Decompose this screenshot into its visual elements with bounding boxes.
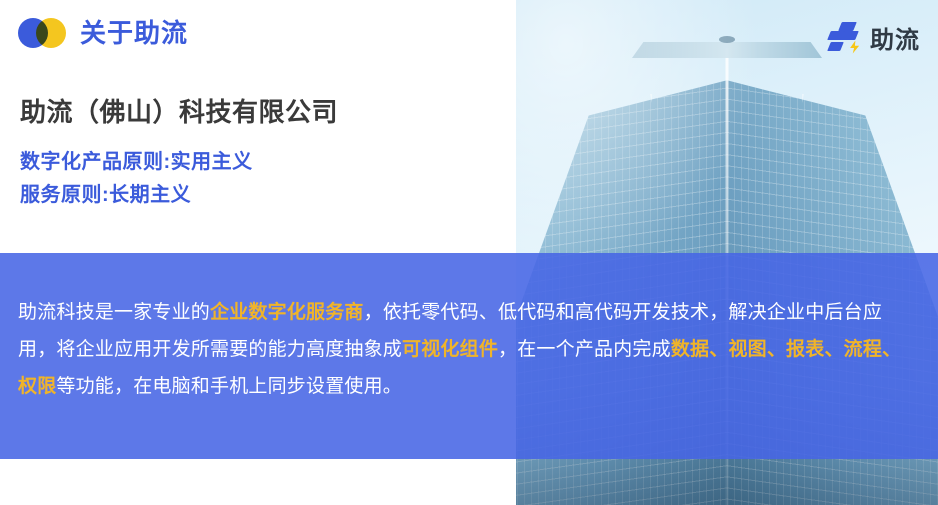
description-highlight-3: 可视化组件: [402, 339, 498, 360]
description-text-4: ，在一个产品内完成: [498, 339, 671, 360]
company-name: 助流（佛山）科技有限公司: [20, 92, 338, 129]
mark-shard-4: [827, 42, 844, 51]
mark-shard-1: [838, 22, 857, 31]
description-text-6: 等功能，在电脑和手机上同步设置使用。: [56, 376, 402, 397]
corner-logo: 助流: [827, 20, 920, 55]
principle-item-service: 服务原则:长期主义: [20, 179, 253, 212]
mark-shard-3: [840, 31, 859, 40]
description-highlight-1: 企业数字化服务商: [210, 302, 364, 323]
slide-root: 助流 关于助流 助流（佛山）科技有限公司 数字化产品原则:实用主义 服务原则:长…: [0, 0, 938, 505]
venn-circles-icon: [18, 18, 66, 48]
section-title: 关于助流: [80, 18, 188, 48]
lightning-bolt-icon: [849, 41, 860, 54]
description-band: 助流科技是一家专业的企业数字化服务商，依托零代码、低代码和高代码开发技术，解决企…: [0, 253, 938, 459]
principles-list: 数字化产品原则:实用主义 服务原则:长期主义: [20, 146, 253, 212]
zhuliu-bolt-mark-icon: [827, 21, 861, 55]
venn-circle-gold: [36, 18, 66, 48]
principle-item-product: 数字化产品原则:实用主义: [20, 146, 253, 179]
description-paragraph: 助流科技是一家专业的企业数字化服务商，依托零代码、低代码和高代码开发技术，解决企…: [18, 294, 920, 405]
description-text-0: 助流科技是一家专业的: [18, 302, 210, 323]
corner-logo-wordmark: 助流: [870, 20, 920, 55]
brand-header: 关于助流: [18, 18, 188, 48]
